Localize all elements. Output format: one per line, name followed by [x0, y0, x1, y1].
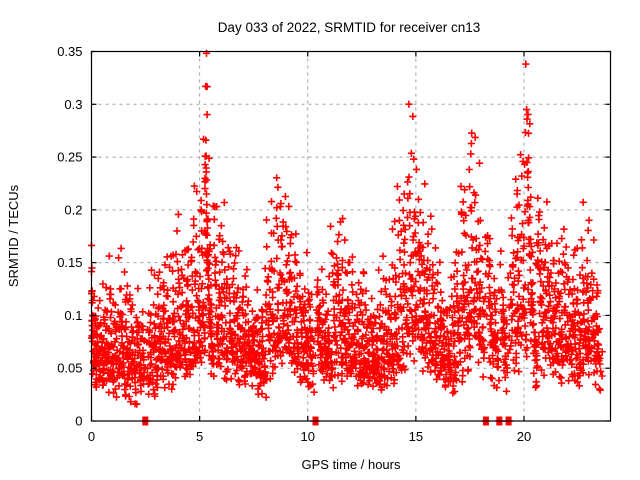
- y-tick-label: 0.2: [64, 202, 82, 217]
- y-tick-label: 0: [75, 414, 82, 429]
- x-tick-label: 20: [517, 429, 531, 444]
- x-tick-label: 15: [409, 429, 423, 444]
- y-tick-label: 0.05: [57, 361, 82, 376]
- x-tick-label: 0: [88, 429, 95, 444]
- y-tick-label: 0.3: [64, 97, 82, 112]
- y-axis-label: SRMTID / TECUs: [6, 184, 21, 287]
- y-tick-label: 0.1: [64, 308, 82, 323]
- x-tick-label: 5: [196, 429, 203, 444]
- srmtid-scatter-plot: Day 033 of 2022, SRMTID for receiver cn1…: [0, 0, 640, 480]
- x-tick-label: 10: [301, 429, 315, 444]
- y-tick-label: 0.15: [57, 255, 82, 270]
- x-axis-label: GPS time / hours: [302, 457, 401, 472]
- y-tick-label: 0.25: [57, 150, 82, 165]
- chart-container: Day 033 of 2022, SRMTID for receiver cn1…: [0, 0, 640, 480]
- chart-title: Day 033 of 2022, SRMTID for receiver cn1…: [218, 20, 481, 35]
- y-tick-label: 0.35: [57, 44, 82, 59]
